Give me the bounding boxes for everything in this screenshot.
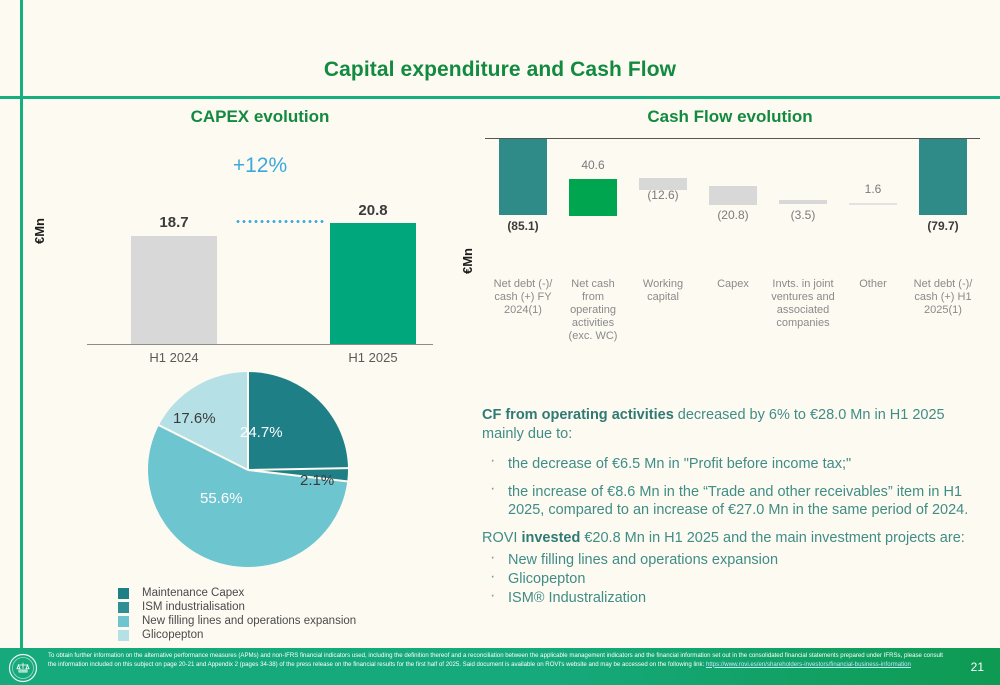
commentary-project-1: New filling lines and operations expansi… [482,551,990,570]
footer-disclaimer: To obtain further information on the alt… [48,652,948,669]
commentary-bullet-1: the decrease of €6.5 Mn in "Profit befor… [482,455,990,473]
capex-x-axis [87,344,433,345]
waterfall-category-other: Other [841,278,905,291]
capex-bar-chart: +12% 18.7 20.8 H1 2024 H1 2025 [85,140,435,370]
cashflow-commentary-panel: CF from operating activities decreased b… [482,406,990,608]
waterfall-col-net-cash-operating: 40.6 Net cash from operating activities … [561,138,625,368]
waterfall-category-capex: Capex [701,278,765,291]
waterfall-value-net-debt-h1-2025: (79.7) [911,219,975,233]
pie-legend: Maintenance Capex ISM industrialisation … [118,586,356,642]
pie-label-glicopepton: 17.6% [173,410,216,427]
legend-item-glicopepton: Glicopepton [118,628,356,642]
footer-disclaimer-link[interactable]: https://www.rovi.es/en/shareholders-inve… [706,661,911,668]
pie-label-ism-industrialisation: 2.1% [300,472,334,489]
legend-swatch-new-filling-lines [118,616,129,627]
waterfall-value-capex: (20.8) [701,208,765,222]
legend-swatch-maintenance-capex [118,588,129,599]
commentary-project-3: ISM® Industralization [482,589,990,608]
legend-swatch-glicopepton [118,630,129,641]
waterfall-category-net-debt-h1-2025: Net debt (-)/ cash (+) H1 2025(1) [911,278,975,317]
capex-section-title: CAPEX evolution [90,107,430,127]
capex-bar-h1-2024 [131,236,217,344]
waterfall-bar-other [849,203,897,205]
capex-category-h1-2024: H1 2024 [131,350,217,365]
page-number: 21 [971,660,984,674]
waterfall-bar-net-debt-h1-2025 [919,139,967,215]
page-title: Capital expenditure and Cash Flow [0,58,1000,82]
legend-item-new-filling-lines: New filling lines and operations expansi… [118,614,356,628]
legend-swatch-ism-industrialisation [118,602,129,613]
waterfall-category-working-capital: Working capital [631,278,695,304]
commentary-projects-list: New filling lines and operations expansi… [482,551,990,608]
commentary-invested-bold: invested [521,530,580,546]
waterfall-col-other: 1.6 Other [841,138,905,368]
capex-bar-h1-2025 [330,223,416,344]
capex-axis-label: €Mn [32,218,47,244]
cashflow-axis-label: €Mn [460,248,475,274]
capex-category-h1-2025: H1 2025 [330,350,416,365]
rovi-logo-icon: ROVI [8,653,38,683]
legend-label-new-filling-lines: New filling lines and operations expansi… [142,615,356,627]
capex-value-h1-2025: 20.8 [330,202,416,219]
capex-breakdown-pie-chart: 24.7% 2.1% 55.6% 17.6% [148,372,348,567]
pie-label-maintenance-capex: 24.7% [240,424,283,441]
legend-label-glicopepton: Glicopepton [142,629,203,641]
commentary-lead: CF from operating activities decreased b… [482,406,990,444]
waterfall-bar-net-debt-fy2024 [499,139,547,215]
waterfall-category-joint-ventures: Invts. in joint ventures and associated … [771,278,835,330]
waterfall-bar-net-cash-operating [569,179,617,216]
waterfall-col-capex: (20.8) Capex [701,138,765,368]
waterfall-value-other: 1.6 [841,182,905,196]
waterfall-col-net-debt-fy2024: (85.1) Net debt (-)/ cash (+) FY 2024(1) [491,138,555,368]
commentary-lead-bold: CF from operating activities [482,407,674,423]
legend-item-ism-industrialisation: ISM industrialisation [118,600,356,614]
capex-connector-dotted-line [235,220,325,223]
svg-text:ROVI: ROVI [19,669,27,673]
capex-value-h1-2024: 18.7 [131,214,217,231]
waterfall-category-net-cash-operating: Net cash from operating activities (exc.… [561,278,625,343]
footer-bar: ROVI To obtain further information on th… [0,648,1000,685]
waterfall-bar-capex [709,186,757,205]
commentary-bullet-list: the decrease of €6.5 Mn in "Profit befor… [482,455,990,519]
waterfall-col-joint-ventures: (3.5) Invts. in joint ventures and assoc… [771,138,835,368]
commentary-invested-line: ROVI invested €20.8 Mn in H1 2025 and th… [482,529,990,548]
pie-separator-0 [247,370,249,470]
waterfall-bar-joint-ventures [779,200,827,204]
header-accent-rule [0,96,1000,99]
waterfall-col-working-capital: (12.6) Working capital [631,138,695,368]
legend-label-ism-industrialisation: ISM industrialisation [142,601,245,613]
commentary-project-2: Glicopepton [482,570,990,589]
commentary-invested-rest: €20.8 Mn in H1 2025 and the main investm… [580,530,964,546]
capex-plot-area: 18.7 20.8 [85,140,435,345]
waterfall-value-joint-ventures: (3.5) [771,208,835,222]
legend-label-maintenance-capex: Maintenance Capex [142,587,244,599]
waterfall-value-net-debt-fy2024: (85.1) [491,219,555,233]
waterfall-value-working-capital: (12.6) [631,188,695,202]
waterfall-value-net-cash-operating: 40.6 [561,158,625,172]
legend-item-maintenance-capex: Maintenance Capex [118,586,356,600]
commentary-invested-pre: ROVI [482,530,521,546]
waterfall-category-net-debt-fy2024: Net debt (-)/ cash (+) FY 2024(1) [491,278,555,317]
pie-label-new-filling-lines: 55.6% [200,490,243,507]
waterfall-col-net-debt-h1-2025: (79.7) Net debt (-)/ cash (+) H1 2025(1) [911,138,975,368]
cashflow-waterfall-chart: (85.1) Net debt (-)/ cash (+) FY 2024(1)… [485,138,985,368]
commentary-bullet-2: the increase of €8.6 Mn in the “Trade an… [482,483,990,519]
cashflow-section-title: Cash Flow evolution [560,107,900,127]
slide-root: Capital expenditure and Cash Flow CAPEX … [0,0,1000,685]
